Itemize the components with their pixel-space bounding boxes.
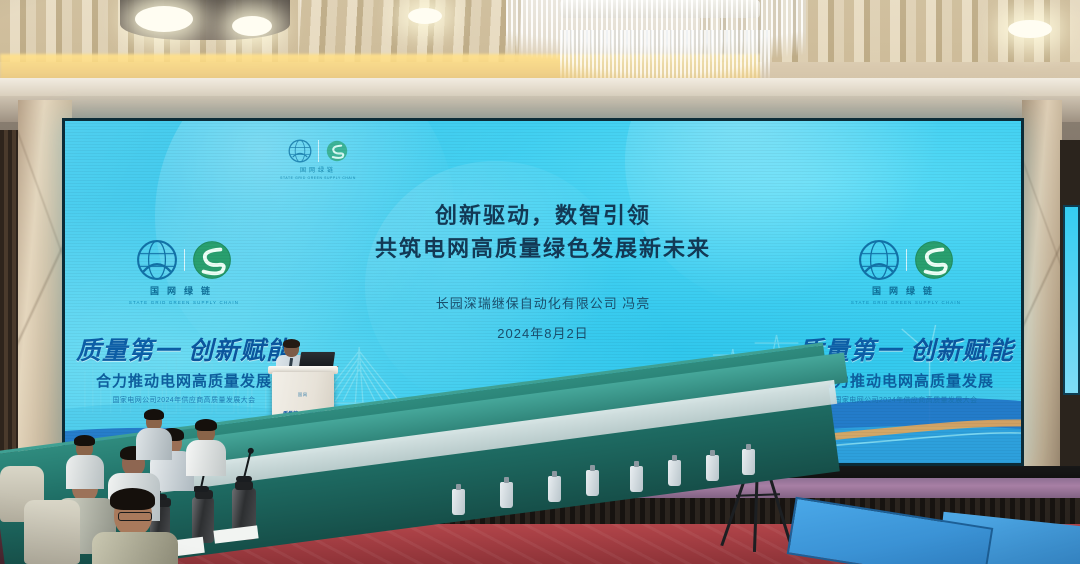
- attendee: [186, 418, 226, 472]
- ceiling-light: [1008, 20, 1052, 38]
- logo-divider: [318, 140, 319, 162]
- water-bottle: [548, 476, 561, 502]
- attendee-hair: [195, 419, 217, 431]
- attendee-body: [92, 532, 178, 564]
- banner-headline: 质量第一 创新赋能: [75, 331, 293, 367]
- water-bottle: [452, 489, 465, 515]
- attendee-hair: [144, 409, 164, 420]
- attendee-hair: [74, 435, 95, 446]
- attendee-body: [136, 428, 172, 460]
- water-bottle: [742, 449, 755, 475]
- slide-logo: 国网绿链 STATE GRID GREEN SUPPLY CHAIN: [275, 139, 361, 185]
- banner-subhead: 合力推动电网高质量发展: [75, 370, 293, 391]
- attendee: [66, 434, 104, 486]
- water-bottle: [630, 466, 643, 492]
- banner-logo-en: STATE GRID GREEN SUPPLY CHAIN: [851, 300, 961, 305]
- banner-footer: 国家电网公司2024年供应商高质量发展大会: [75, 395, 293, 405]
- slide-logo-cn: 国网绿链: [300, 165, 336, 174]
- banner-logo-cn: 国网绿链: [150, 284, 218, 297]
- presenter-hair: [283, 339, 300, 348]
- banner-logo-right: 国网绿链 STATE GRID GREEN SUPPLY CHAIN: [797, 239, 1015, 305]
- attendee-hair: [110, 488, 155, 510]
- slide-title-line1: 创新驱动，数智引领: [65, 199, 1021, 232]
- banner-headline-b: 创新赋能: [910, 337, 1014, 365]
- state-grid-globe-emblem: [858, 239, 900, 281]
- banner-logo-cn: 国网绿链: [872, 284, 940, 297]
- chair: [24, 500, 80, 564]
- water-bottle: [586, 470, 599, 496]
- banner-headline-a: 质量第一: [76, 337, 180, 365]
- attendee-foreground: [92, 492, 178, 564]
- vacuum-flask: [192, 497, 214, 543]
- ceiling: [0, 0, 1080, 96]
- ceiling-light: [408, 8, 442, 24]
- logo-divider: [184, 249, 185, 271]
- green-s-globe-emblem: [913, 239, 955, 281]
- ceiling-coffer-mid: [298, 0, 521, 62]
- slide-logo-en: STATE GRID GREEN SUPPLY CHAIN: [280, 176, 356, 180]
- secondary-screen: [1063, 205, 1080, 395]
- banner-left: 国网绿链 STATE GRID GREEN SUPPLY CHAIN 质量第一 …: [75, 239, 293, 405]
- conference-photo: 国网绿链 STATE GRID GREEN SUPPLY CHAIN 创新驱动，…: [0, 0, 1080, 564]
- podium-logo-text: 国网: [280, 392, 326, 398]
- logo-pair: [858, 239, 955, 281]
- logo-divider: [906, 249, 907, 271]
- marble-pillar-right: [1022, 100, 1062, 500]
- water-bottle: [500, 482, 513, 508]
- banner-logo-en: STATE GRID GREEN SUPPLY CHAIN: [129, 300, 239, 305]
- state-grid-globe-emblem: [288, 139, 312, 163]
- state-grid-globe-emblem: [136, 239, 178, 281]
- ceiling-light: [135, 6, 193, 32]
- logo-pair: [136, 239, 233, 281]
- microphone-base: [236, 476, 252, 482]
- ceiling-light: [232, 16, 272, 36]
- attendee: [136, 408, 172, 456]
- logo-pair: [288, 139, 349, 163]
- water-bottle: [706, 455, 719, 481]
- banner-logo-left: 国网绿链 STATE GRID GREEN SUPPLY CHAIN: [75, 239, 293, 305]
- ceiling-edge-trim: [0, 78, 1080, 98]
- microphone-base: [193, 486, 209, 492]
- attendee-body: [66, 455, 104, 489]
- water-bottle: [668, 460, 681, 486]
- attendee-body: [186, 440, 226, 476]
- green-s-globe-emblem: [325, 139, 349, 163]
- green-s-globe-emblem: [191, 239, 233, 281]
- eyeglasses: [118, 512, 152, 521]
